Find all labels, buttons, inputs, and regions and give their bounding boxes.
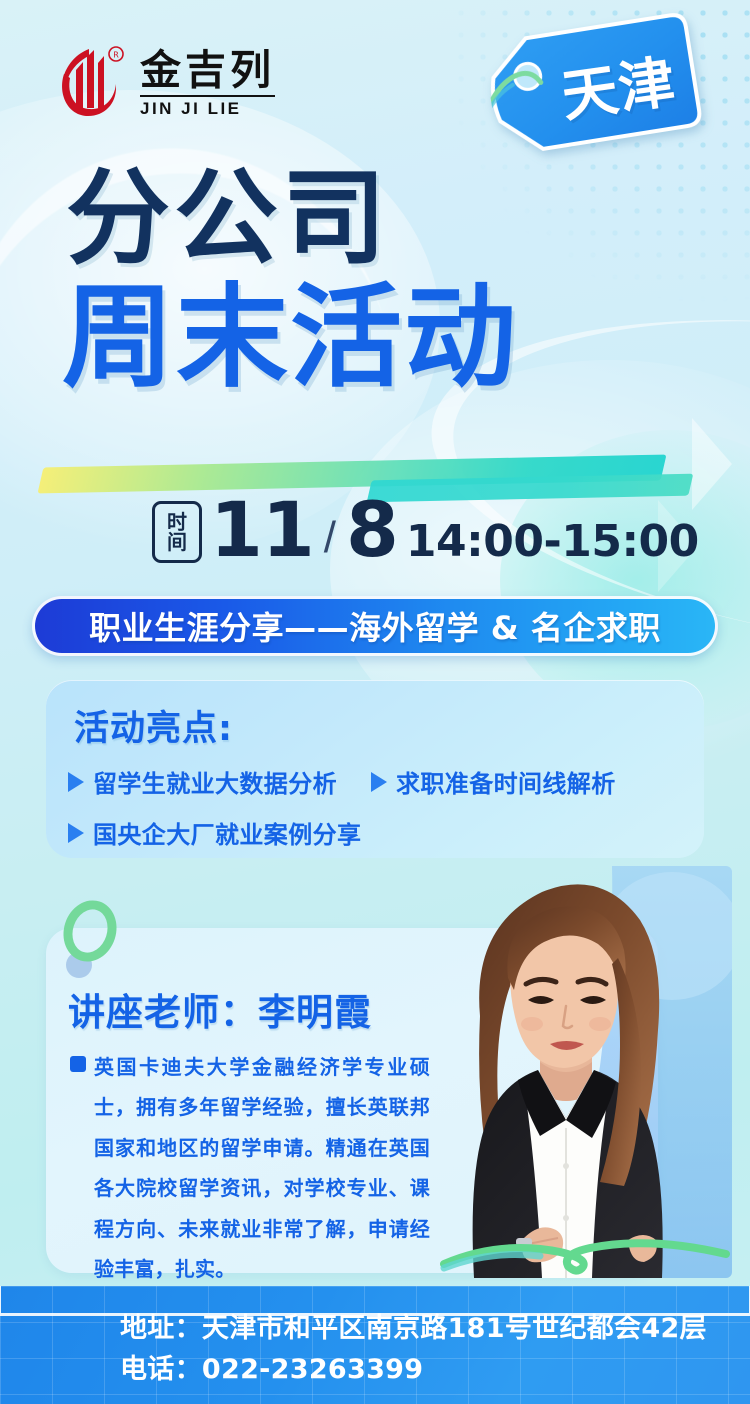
event-day: 8 [346, 492, 398, 568]
topic-banner: 职业生涯分享——海外留学 & 名企求职 [32, 596, 718, 656]
brand-name-en: JIN JI LIE [140, 95, 275, 117]
brand-wordmark: 金吉列 JIN JI LIE [140, 50, 275, 117]
highlights-row-1: 留学生就业大数据分析 求职准备时间线解析 [68, 764, 684, 799]
highlight-item-label: 国央企大厂就业案例分享 [93, 815, 361, 850]
topic-banner-text: 职业生涯分享——海外留学 & 名企求职 [89, 603, 661, 649]
brand-name-cn: 金吉列 [140, 50, 275, 91]
speaker-portrait-photo [432, 866, 732, 1278]
event-month: 11 [210, 492, 314, 568]
green-swirl-decoration [440, 1232, 730, 1276]
date-separator: / [322, 516, 338, 568]
triangle-right-icon [68, 772, 84, 792]
highlights-row-2: 国央企大厂就业案例分享 [68, 815, 684, 850]
list-item: 求职准备时间线解析 [371, 764, 616, 799]
highlights-list: 留学生就业大数据分析 求职准备时间线解析 国央企大厂就业案例分享 [68, 764, 684, 866]
footer-contact-bar: 地址：天津市和平区南京路181号世纪都会42层 电话：022-23263399 [0, 1286, 750, 1404]
city-tag-badge: 天津 [481, 6, 708, 165]
square-bullet-icon [70, 1056, 86, 1072]
footer-address: 地址：天津市和平区南京路181号世纪都会42层 [120, 1308, 707, 1349]
highlight-item-label: 留学生就业大数据分析 [93, 764, 337, 799]
brand-logo: R 金吉列 JIN JI LIE [56, 44, 275, 122]
time-label-char-1: 时 [167, 512, 187, 532]
headline-line-1: 分公司 [0, 165, 750, 271]
triangle-right-icon [371, 772, 387, 792]
svg-text:R: R [113, 51, 119, 60]
list-item: 留学生就业大数据分析 [68, 764, 337, 799]
highlights-card: 活动亮点: 留学生就业大数据分析 求职准备时间线解析 国央企大厂就业案例分享 [46, 680, 704, 858]
headline-line-2: 周末活动 [0, 281, 750, 395]
poster-root: R 金吉列 JIN JI LIE 分公司 周末活动 [0, 0, 750, 1404]
triangle-right-icon [68, 823, 84, 843]
footer-contact-text: 地址：天津市和平区南京路181号世纪都会42层 电话：022-23263399 [120, 1308, 707, 1390]
highlight-item-label: 求职准备时间线解析 [396, 764, 616, 799]
highlights-title: 活动亮点: [74, 700, 233, 751]
time-label-char-2: 间 [167, 532, 187, 552]
event-datetime: 时 间 11 / 8 14:00-15:00 [152, 492, 699, 568]
footer-phone: 电话：022-23263399 [120, 1349, 707, 1390]
speaker-bio: 英国卡迪夫大学金融经济学专业硕士，拥有多年留学经验，擅长英联邦国家和地区的留学申… [94, 1047, 430, 1289]
speaker-name: 讲座老师：李明霞 [68, 982, 372, 1036]
headline-block: 分公司 周末活动 [0, 165, 750, 395]
event-time-range: 14:00-15:00 [406, 520, 699, 568]
list-item: 国央企大厂就业案例分享 [68, 815, 361, 850]
jinjilie-logo-icon: R [56, 44, 130, 122]
time-label-chip: 时 间 [152, 501, 202, 563]
